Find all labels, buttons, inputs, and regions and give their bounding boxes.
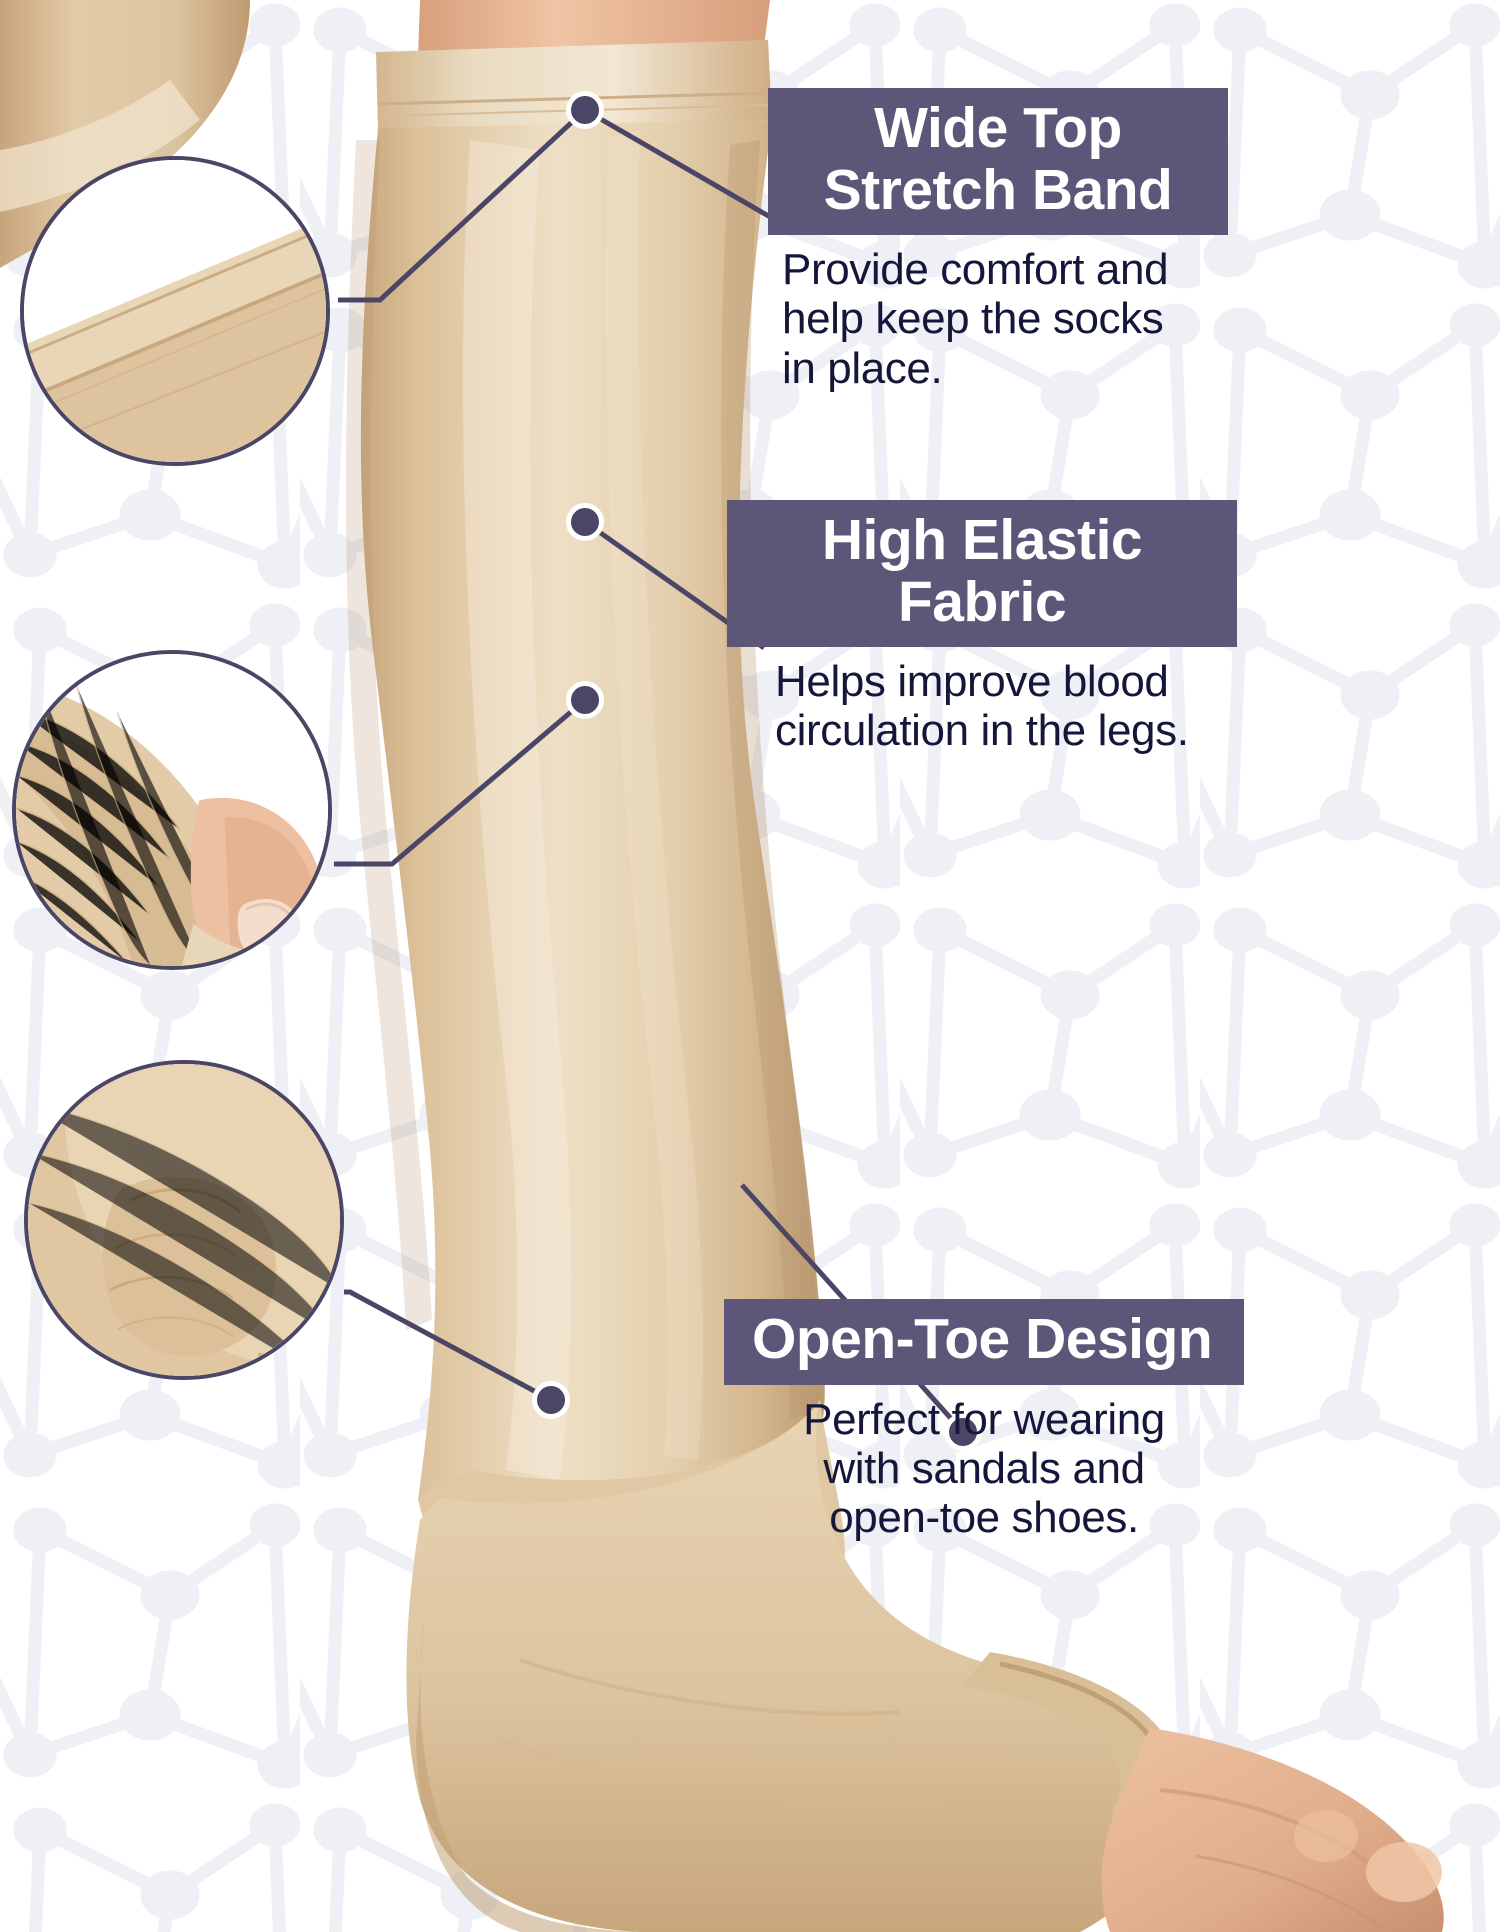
- feature-description-high-elastic-fabric: Helps improve blood circulation in the l…: [727, 647, 1237, 756]
- marker-dot-elastic-fabric[interactable]: [566, 503, 604, 541]
- marker-dot-top-band[interactable]: [566, 91, 604, 129]
- feature-title-open-toe-design: Open-Toe Design: [724, 1299, 1244, 1385]
- feature-title-wide-top-stretch-band: Wide Top Stretch Band: [768, 88, 1228, 235]
- feature-block-high-elastic-fabric: High Elastic Fabric Helps improve blood …: [727, 500, 1237, 756]
- feature-block-open-toe-design: Open-Toe Design Perfect for wearing with…: [724, 1299, 1244, 1542]
- feature-block-wide-top-stretch-band: Wide Top Stretch Band Provide comfort an…: [768, 88, 1228, 393]
- infographic-canvas: Wide Top Stretch Band Provide comfort an…: [0, 0, 1500, 1932]
- callout-circle-heel-closeup: [24, 1060, 344, 1380]
- feature-description-wide-top-stretch-band: Provide comfort and help keep the socks …: [768, 235, 1228, 393]
- marker-dot-fabric-stretch[interactable]: [566, 681, 604, 719]
- callout-circle-fabric-stretch-closeup: [12, 650, 332, 970]
- feature-description-open-toe-design: Perfect for wearing with sandals and ope…: [724, 1385, 1244, 1543]
- feature-title-high-elastic-fabric: High Elastic Fabric: [727, 500, 1237, 647]
- marker-dot-heel[interactable]: [532, 1381, 570, 1419]
- callout-circle-band-closeup: [20, 156, 330, 466]
